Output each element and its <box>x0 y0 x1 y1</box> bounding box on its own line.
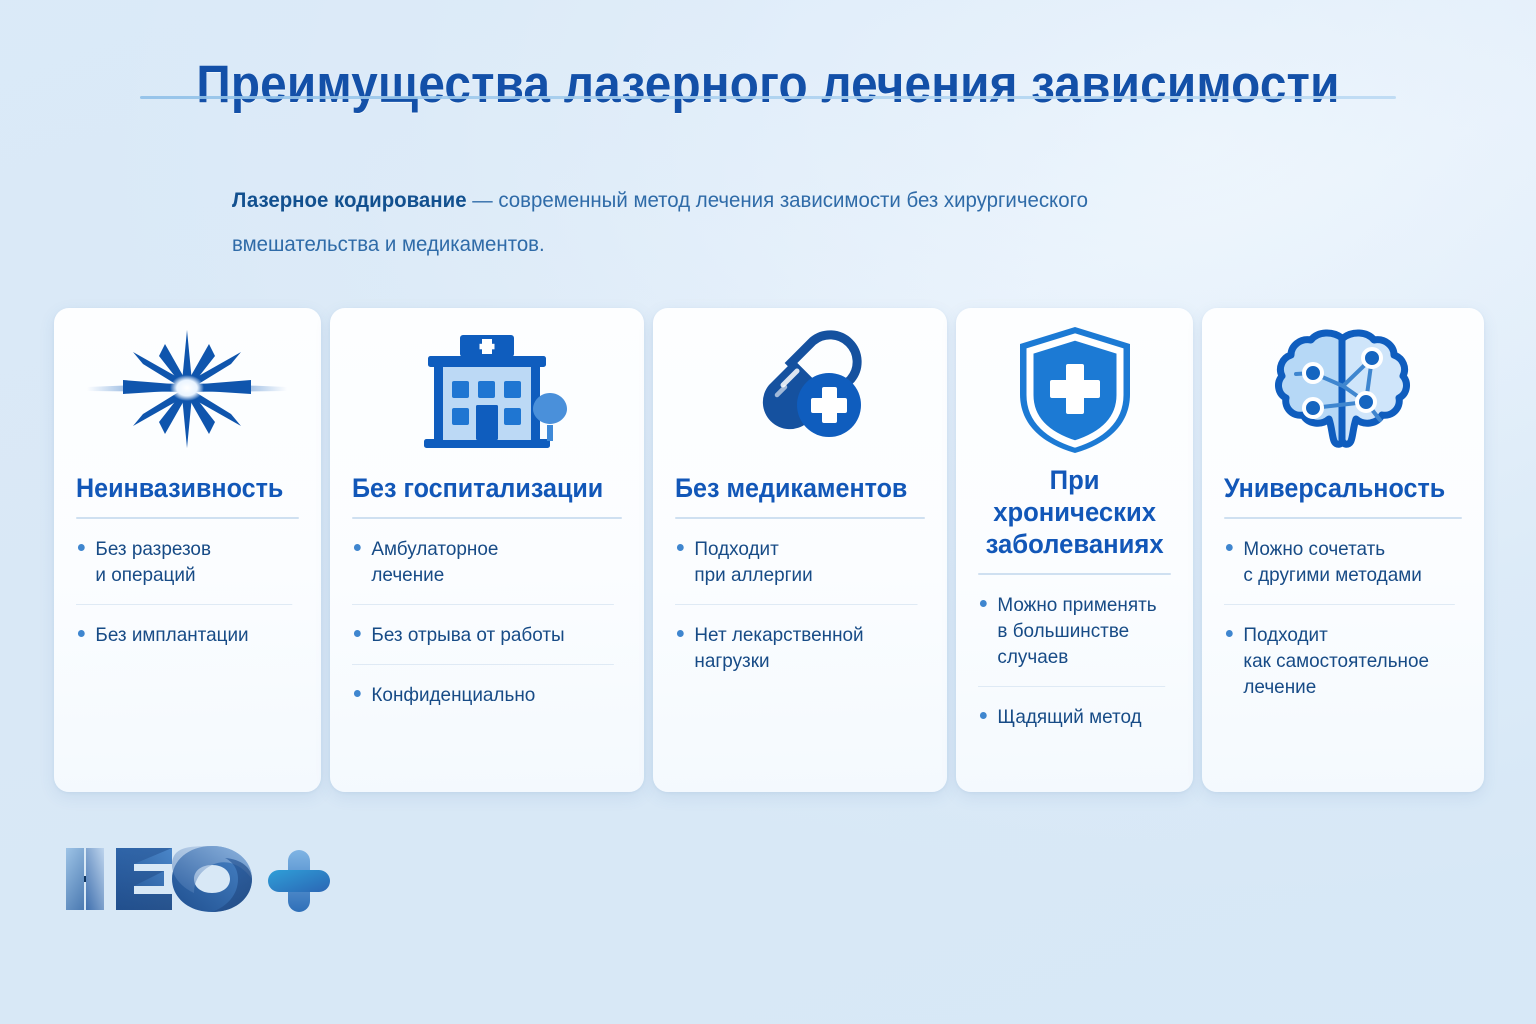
card-bullets: Можно применятьв большинстве случаев Щад… <box>978 575 1171 746</box>
laser-burst-icon <box>76 314 299 464</box>
infographic-page: Преимущества лазерного лечения зависимос… <box>0 0 1536 1024</box>
list-item: Подходитпри аллергии <box>675 519 917 604</box>
card-title-box: Без госпитализации <box>352 464 622 504</box>
title-divider <box>140 96 1396 99</box>
neo-plus-logo <box>60 836 330 922</box>
card-title-box: Без медикаментов <box>675 464 925 504</box>
card-title-box: Универсальность <box>1224 464 1462 504</box>
list-item: Щадящий метод <box>978 686 1165 746</box>
card-bullets: Подходитпри аллергии Нет лекарственнойна… <box>675 519 925 690</box>
card-title-box: Неинвазивность <box>76 464 299 504</box>
shield-cross-icon <box>978 314 1171 464</box>
card-pri-hronicheskih-zabolevaniyah[interactable]: При хронических заболеваниях Можно приме… <box>956 308 1193 792</box>
list-item: Нет лекарственнойнагрузки <box>675 604 917 690</box>
brain-network-icon <box>1224 314 1462 464</box>
card-bullets: Можно сочетатьс другими методами Подходи… <box>1224 519 1462 716</box>
pill-capsule-cross-icon <box>675 314 925 464</box>
card-title: Без госпитализации <box>352 472 603 504</box>
card-title-box: При хронических заболеваниях <box>978 464 1171 560</box>
card-bez-medikamentov[interactable]: Без медикаментов Подходитпри аллергии Не… <box>653 308 947 792</box>
card-universalnost[interactable]: Универсальность Можно сочетатьс другими … <box>1202 308 1484 792</box>
card-bullets: Без разрезови операций Без имплантации <box>76 519 299 664</box>
card-title: При хронических заболеваниях <box>983 464 1167 560</box>
list-item: Можно применятьв большинстве случаев <box>978 575 1165 686</box>
list-item: Без имплантации <box>76 604 292 664</box>
card-bullets: Амбулаторноелечение Без отрыва от работы… <box>352 519 622 724</box>
benefit-cards: Неинвазивность Без разрезови операций Бе… <box>54 308 1484 792</box>
list-item: Без разрезови операций <box>76 519 292 604</box>
page-title: Преимущества лазерного лечения зависимос… <box>77 54 1459 115</box>
subtitle-dash: — <box>467 188 499 212</box>
subtitle-strong: Лазерное кодирование <box>232 188 467 212</box>
list-item: Подходиткак самостоятельноелечение <box>1224 604 1455 716</box>
card-title: Неинвазивность <box>76 472 283 504</box>
subtitle: Лазерное кодирование — современный метод… <box>232 178 1163 266</box>
card-bez-gospitalizacii[interactable]: Без госпитализации Амбулаторноелечение Б… <box>330 308 644 792</box>
card-title: Без медикаментов <box>675 472 907 504</box>
list-item: Амбулаторноелечение <box>352 519 614 604</box>
list-item: Конфиденциально <box>352 664 614 724</box>
card-neinvazivnost[interactable]: Неинвазивность Без разрезови операций Бе… <box>54 308 321 792</box>
card-title: Универсальность <box>1224 472 1445 504</box>
list-item: Без отрыва от работы <box>352 604 614 664</box>
list-item: Можно сочетатьс другими методами <box>1224 519 1455 604</box>
hospital-building-icon <box>352 314 622 464</box>
header: Преимущества лазерного лечения зависимос… <box>0 54 1536 115</box>
